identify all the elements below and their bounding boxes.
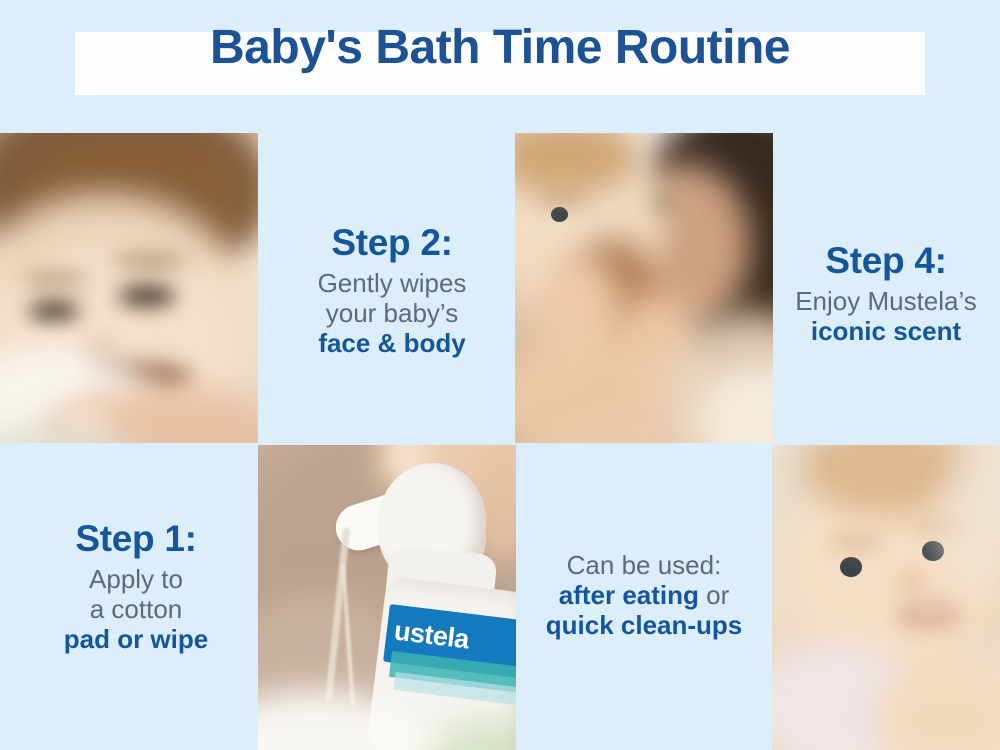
step2-line1: Gently wipes	[270, 268, 514, 298]
usage-line2-tail: or	[699, 580, 729, 610]
page-title: Baby's Bath Time Routine	[0, 20, 1000, 75]
photo-baby-lying	[772, 445, 1000, 750]
photo-product-pour: ustela	[258, 445, 516, 750]
usage-line2-bold: after eating	[559, 580, 699, 610]
text-block-step2: Step 2: Gently wipes your baby’s face & …	[270, 222, 514, 358]
step2-heading: Step 2:	[270, 222, 514, 265]
text-block-step4: Step 4: Enjoy Mustela’s iconic scent	[772, 240, 1000, 346]
text-block-step1: Step 1: Apply to a cotton pad or wipe	[14, 518, 258, 654]
photo-mother-baby	[515, 133, 773, 443]
step1-heading: Step 1:	[14, 518, 258, 561]
infographic-canvas: Baby's Bath Time Routine	[0, 0, 1000, 750]
step4-line2: iconic scent	[772, 316, 1000, 346]
step2-line2: your baby’s	[270, 298, 514, 328]
step1-line3: pad or wipe	[14, 624, 258, 654]
step2-line3: face & body	[270, 328, 514, 358]
text-block-usage: Can be used: after eating or quick clean…	[516, 550, 772, 640]
step1-line1: Apply to	[14, 564, 258, 594]
usage-heading: Can be used:	[516, 550, 772, 580]
photo-baby-wiped	[0, 133, 258, 443]
step4-heading: Step 4:	[772, 240, 1000, 283]
step1-line2: a cotton	[14, 594, 258, 624]
usage-line2: after eating or	[516, 580, 772, 610]
usage-line3: quick clean-ups	[516, 610, 772, 640]
step4-line1: Enjoy Mustela’s	[772, 286, 1000, 316]
